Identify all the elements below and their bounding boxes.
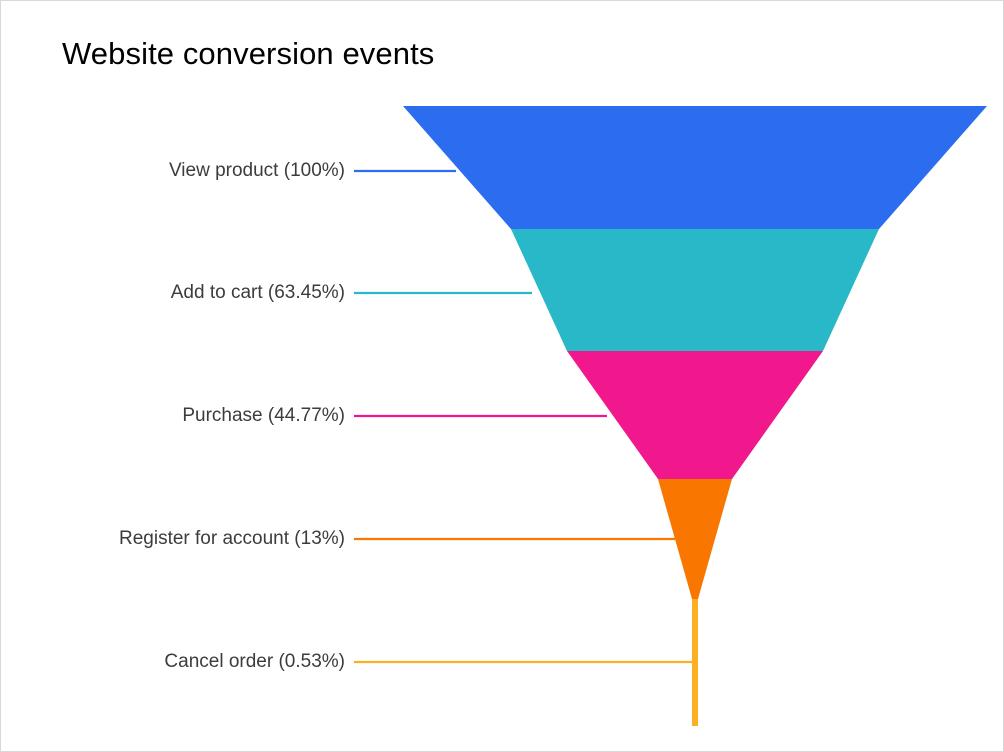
stage-label-purchase: Purchase (44.77%)	[1, 405, 345, 427]
funnel-band-view-product[interactable]	[403, 106, 987, 229]
stage-label-cancel-order: Cancel order (0.53%)	[1, 651, 345, 673]
funnel-chart-canvas: Website conversion events View product (…	[0, 0, 1004, 752]
funnel-shape-group	[1, 1, 1004, 752]
funnel-band-add-to-cart[interactable]	[511, 229, 879, 351]
stage-label-register-for-account: Register for account (13%)	[1, 528, 345, 550]
stage-label-add-to-cart: Add to cart (63.45%)	[1, 282, 345, 304]
stage-label-view-product: View product (100%)	[1, 160, 345, 182]
